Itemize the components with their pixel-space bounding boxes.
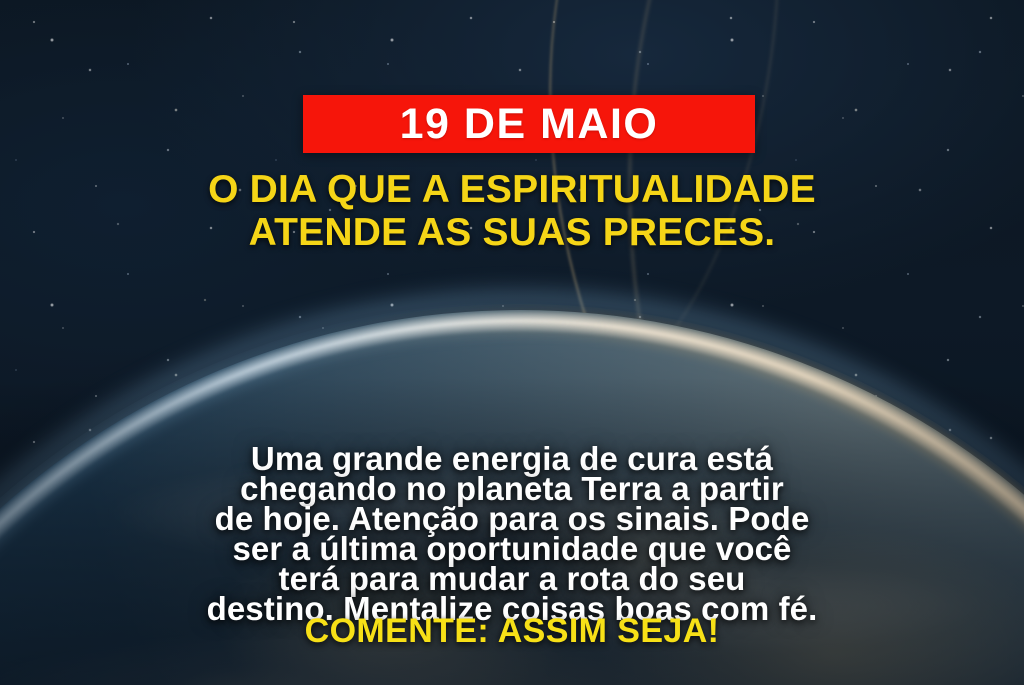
- date-banner-label: 19 DE MAIO: [400, 103, 659, 146]
- date-banner: 19 DE MAIO: [303, 95, 755, 153]
- headline-line-1: O DIA QUE A ESPIRITUALIDADE: [0, 168, 1024, 211]
- headline-line-2: ATENDE AS SUAS PRECES.: [0, 211, 1024, 254]
- body-copy: Uma grande energia de cura está chegando…: [0, 444, 1024, 624]
- call-to-action-label: COMENTE: ASSIM SEJA!: [0, 612, 1024, 650]
- headline: O DIA QUE A ESPIRITUALIDADE ATENDE AS SU…: [0, 168, 1024, 254]
- poster-canvas: 19 DE MAIO O DIA QUE A ESPIRITUALIDADE A…: [0, 0, 1024, 685]
- poster-content: 19 DE MAIO O DIA QUE A ESPIRITUALIDADE A…: [0, 0, 1024, 685]
